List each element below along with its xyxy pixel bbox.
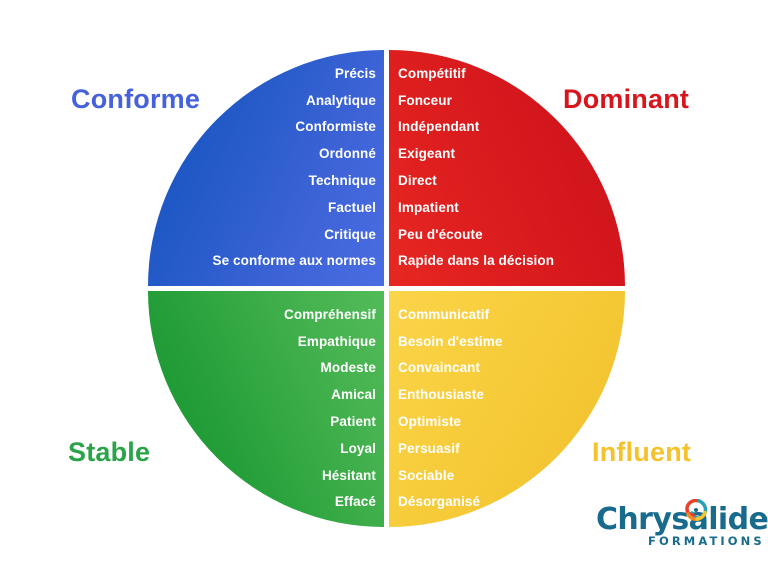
trait-item: Direct <box>398 169 437 194</box>
trait-item: Ordonné <box>319 142 376 167</box>
trait-item: Communicatif <box>398 303 489 328</box>
trait-item: Technique <box>309 169 376 194</box>
trait-item: Patient <box>330 410 376 435</box>
trait-item: Fonceur <box>398 89 452 114</box>
trait-item: Indépendant <box>398 115 479 140</box>
trait-item: Enthousiaste <box>398 383 484 408</box>
trait-item: Impatient <box>398 196 459 221</box>
trait-list-stable: Compréhensif Empathique Modeste Amical P… <box>284 291 376 527</box>
trait-item: Désorganisé <box>398 490 480 515</box>
trait-list-dominant: Compétitif Fonceur Indépendant Exigeant … <box>398 50 554 286</box>
trait-list-conforme: Précis Analytique Conformiste Ordonné Te… <box>212 50 376 286</box>
trait-item: Empathique <box>298 330 376 355</box>
quadrant-label-conforme: Conforme <box>71 84 200 115</box>
trait-item: Persuasif <box>398 437 460 462</box>
disc-model-infographic: Précis Analytique Conformiste Ordonné Te… <box>0 0 768 576</box>
trait-item: Optimiste <box>398 410 461 435</box>
quadrant-influent[interactable]: Communicatif Besoin d'estime Convaincant… <box>389 291 625 527</box>
brand-logo-wordmark: Chrysalide <box>596 505 768 535</box>
trait-item: Effacé <box>335 490 376 515</box>
disc-wheel: Précis Analytique Conformiste Ordonné Te… <box>148 50 625 527</box>
trait-item: Compétitif <box>398 62 466 87</box>
trait-item: Peu d'écoute <box>398 223 483 248</box>
trait-item: Factuel <box>328 196 376 221</box>
trait-item: Amical <box>331 383 376 408</box>
trait-item: Conformiste <box>295 115 376 140</box>
trait-item: Compréhensif <box>284 303 376 328</box>
trait-list-influent: Communicatif Besoin d'estime Convaincant… <box>398 291 503 527</box>
trait-item: Critique <box>324 223 376 248</box>
trait-item: Loyal <box>340 437 376 462</box>
trait-item: Hésitant <box>322 464 376 489</box>
trait-item: Besoin d'estime <box>398 330 503 355</box>
brand-logo-subtitle: FORMATIONS <box>648 535 765 547</box>
quadrant-label-influent: Influent <box>592 437 691 468</box>
trait-item: Convaincant <box>398 356 480 381</box>
trait-item: Précis <box>335 62 376 87</box>
trait-item: Modeste <box>321 356 376 381</box>
brand-logo[interactable]: Chrysalide FORMATIONS <box>596 499 748 551</box>
trait-item: Se conforme aux normes <box>212 249 376 274</box>
trait-item: Analytique <box>306 89 376 114</box>
quadrant-label-dominant: Dominant <box>563 84 689 115</box>
chrysalis-swirl-icon <box>684 499 708 521</box>
trait-item: Rapide dans la décision <box>398 249 554 274</box>
quadrant-stable[interactable]: Compréhensif Empathique Modeste Amical P… <box>148 291 384 527</box>
trait-item: Sociable <box>398 464 454 489</box>
quadrant-label-stable: Stable <box>68 437 150 468</box>
trait-item: Exigeant <box>398 142 455 167</box>
